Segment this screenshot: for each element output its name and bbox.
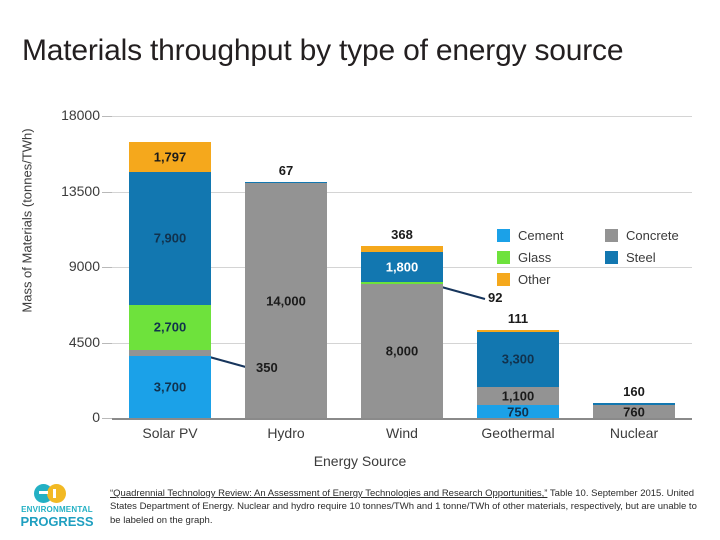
- legend-item-glass[interactable]: Glass: [497, 247, 564, 267]
- bar-total-label: 368: [332, 227, 472, 242]
- legend-label: Concrete: [626, 228, 679, 243]
- bar-segment-glass[interactable]: [361, 282, 443, 284]
- bar-segment-concrete[interactable]: 760: [593, 405, 675, 418]
- legend-swatch-icon: [605, 229, 618, 242]
- bar-segment-other[interactable]: [361, 246, 443, 252]
- y-tick-mark: [102, 418, 112, 419]
- bar-segment-cement[interactable]: 750: [477, 405, 559, 418]
- legend-label: Glass: [518, 250, 551, 265]
- bar-segment-concrete[interactable]: 1,100: [477, 387, 559, 405]
- bar-hydro[interactable]: 14,000: [245, 182, 327, 418]
- logo-mark-icon: [34, 484, 68, 503]
- legend-swatch-icon: [497, 229, 510, 242]
- logo: ENVIRONMENTAL PROGRESS: [18, 484, 96, 534]
- legend-label: Other: [518, 272, 551, 287]
- footnote: “Quadrennial Technology Review: An Asses…: [110, 487, 710, 527]
- segment-value-label: 7,900: [129, 231, 211, 246]
- segment-value-label: 750: [477, 404, 559, 419]
- legend-swatch-icon: [497, 251, 510, 264]
- bar-segment-glass[interactable]: 2,700: [129, 305, 211, 350]
- legend-swatch-icon: [497, 273, 510, 286]
- segment-value-label: 3,700: [129, 379, 211, 394]
- legend-item-concrete[interactable]: Concrete: [605, 225, 679, 245]
- legend-item-steel[interactable]: Steel: [605, 247, 679, 267]
- segment-value-label: 8,000: [361, 343, 443, 358]
- bar-segment-steel[interactable]: 7,900: [129, 172, 211, 305]
- segment-value-label: 760: [593, 404, 675, 419]
- bar-geothermal[interactable]: 7501,1003,300: [477, 330, 559, 418]
- footnote-source: “Quadrennial Technology Review: An Asses…: [110, 488, 547, 499]
- legend-label: Cement: [518, 228, 564, 243]
- bar-total-label: 160: [564, 384, 704, 399]
- bar-segment-steel[interactable]: [593, 403, 675, 406]
- x-axis-label: Energy Source: [0, 453, 720, 469]
- bar-segment-steel[interactable]: 1,800: [361, 252, 443, 282]
- y-tick-mark: [102, 267, 112, 268]
- legend-column-2: ConcreteSteel: [605, 225, 679, 269]
- bar-segment-concrete[interactable]: 14,000: [245, 183, 327, 418]
- logo-line-1: ENVIRONMENTAL: [18, 505, 96, 514]
- y-tick-label: 18000: [34, 107, 100, 123]
- bar-segment-steel[interactable]: 3,300: [477, 332, 559, 387]
- bar-segment-steel[interactable]: [245, 182, 327, 184]
- legend-item-other[interactable]: Other: [497, 269, 564, 289]
- bar-nuclear[interactable]: 760: [593, 403, 675, 418]
- bar-wind[interactable]: 8,0001,800: [361, 246, 443, 418]
- legend-label: Steel: [626, 250, 656, 265]
- segment-value-label: 14,000: [245, 293, 327, 308]
- chart-area: Mass of Materials (tonnes/TWh) 045009000…: [0, 95, 720, 440]
- segment-value-label: 3,300: [477, 352, 559, 367]
- y-tick-label: 4500: [34, 334, 100, 350]
- chart-page: Materials throughput by type of energy s…: [0, 0, 720, 540]
- page-title: Materials throughput by type of energy s…: [22, 34, 623, 68]
- callout-label: 92: [488, 290, 502, 305]
- bar-solar-pv[interactable]: 3,7002,7007,9001,797: [129, 142, 211, 418]
- logo-line-2: PROGRESS: [18, 514, 96, 529]
- segment-value-label: 1,797: [129, 150, 211, 165]
- y-tick-mark: [102, 343, 112, 344]
- legend-item-cement[interactable]: Cement: [497, 225, 564, 245]
- bar-segment-concrete[interactable]: [129, 350, 211, 356]
- x-tick-nuclear: Nuclear: [564, 425, 704, 441]
- bar-segment-other[interactable]: [477, 330, 559, 332]
- y-tick-label: 13500: [34, 183, 100, 199]
- segment-value-label: 1,100: [477, 389, 559, 404]
- bar-total-label: 67: [216, 163, 356, 178]
- y-tick-mark: [102, 192, 112, 193]
- y-tick-mark: [102, 116, 112, 117]
- y-axis-label: Mass of Materials (tonnes/TWh): [20, 86, 35, 356]
- segment-value-label: 1,800: [361, 260, 443, 275]
- bar-segment-concrete[interactable]: 8,000: [361, 284, 443, 418]
- bar-segment-other[interactable]: 1,797: [129, 142, 211, 172]
- bar-total-label: 111: [448, 311, 588, 326]
- gridline: [112, 116, 692, 117]
- legend-column-1: CementGlassOther: [497, 225, 564, 291]
- callout-label: 350: [256, 360, 278, 375]
- segment-value-label: 2,700: [129, 320, 211, 335]
- y-tick-label: 0: [34, 409, 100, 425]
- y-tick-label: 9000: [34, 258, 100, 274]
- legend-swatch-icon: [605, 251, 618, 264]
- bar-segment-cement[interactable]: 3,700: [129, 356, 211, 418]
